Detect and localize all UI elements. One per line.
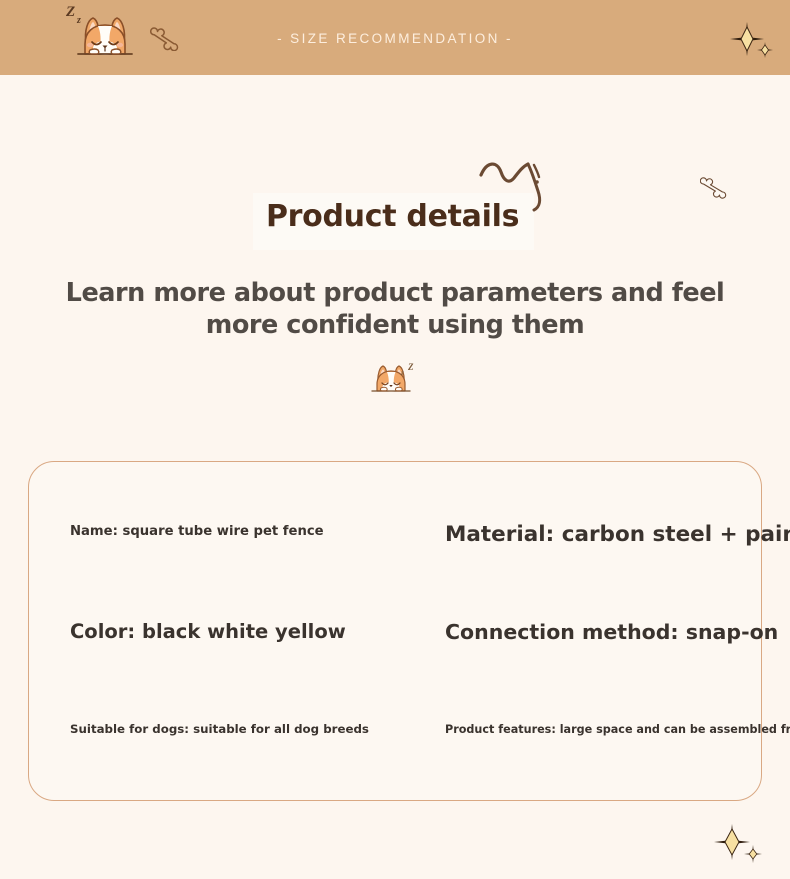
- spec-material-text: Material: carbon steel + paint: [445, 522, 790, 547]
- spec-features-text: Product features: large space and can be…: [445, 723, 790, 736]
- page-title: Product details: [266, 199, 519, 234]
- page-subtitle: Learn more about product parameters and …: [45, 277, 745, 341]
- sparkle-star-icon: [534, 818, 774, 866]
- spec-row: Color: black white yellow Connection met…: [29, 620, 763, 644]
- product-spec-card: Name: square tube wire pet fence Materia…: [28, 461, 762, 801]
- spec-color-text: Color: black white yellow: [70, 620, 346, 643]
- sleep-z-large: Z: [408, 362, 414, 372]
- spec-cell-connection: Connection method: snap-on: [401, 620, 763, 644]
- spec-cell-material: Material: carbon steel + paint: [401, 522, 763, 547]
- spec-cell-suitable-dogs: Suitable for dogs: suitable for all dog …: [29, 720, 401, 738]
- spec-row: Suitable for dogs: suitable for all dog …: [29, 720, 763, 738]
- sleep-z-icon: Z z: [400, 362, 426, 384]
- header-title: - SIZE RECOMMENDATION -: [0, 31, 790, 46]
- spec-suitable-dogs-text: Suitable for dogs: suitable for all dog …: [70, 722, 369, 736]
- spec-cell-features: Product features: large space and can be…: [401, 720, 763, 738]
- sleep-z-small: z: [401, 369, 404, 377]
- spec-cell-name: Name: square tube wire pet fence: [29, 522, 401, 547]
- bone-icon: [700, 176, 734, 200]
- spec-connection-text: Connection method: snap-on: [445, 620, 778, 644]
- spec-cell-color: Color: black white yellow: [29, 620, 401, 644]
- spec-row: Name: square tube wire pet fence Materia…: [29, 522, 763, 547]
- spec-name-text: Name: square tube wire pet fence: [70, 524, 324, 539]
